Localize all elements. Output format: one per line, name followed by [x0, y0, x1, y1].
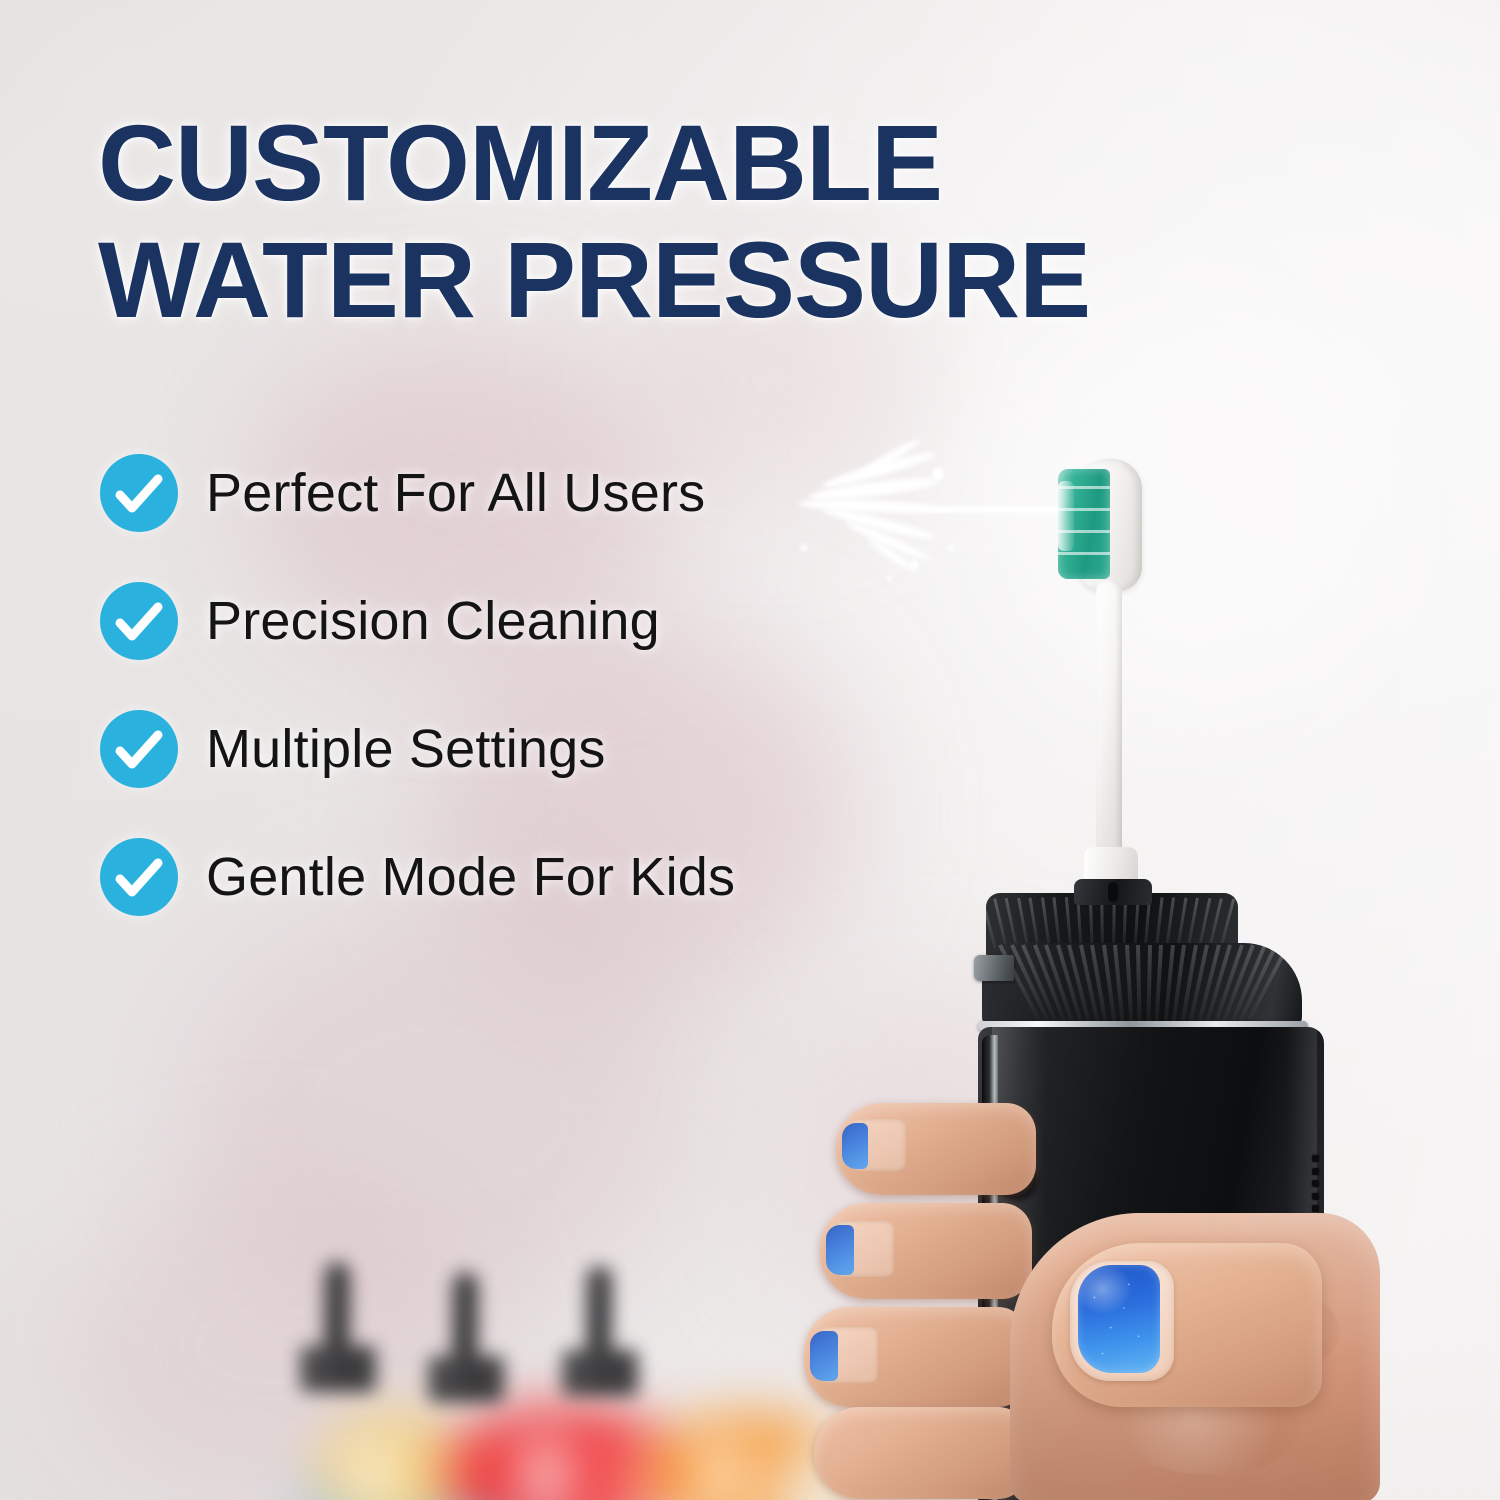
list-item-label: Gentle Mode For Kids — [206, 846, 735, 908]
check-icon — [100, 838, 178, 916]
check-icon — [100, 454, 178, 532]
headline-line-2: WATER PRESSURE — [98, 229, 1090, 332]
list-item: Multiple Settings — [100, 706, 735, 792]
check-icon — [100, 582, 178, 660]
device-shoulder — [982, 943, 1302, 1027]
list-item: Precision Cleaning — [100, 578, 735, 664]
nail-polish — [810, 1331, 838, 1381]
nail-polish — [842, 1123, 868, 1169]
water-splash-plume — [790, 448, 960, 588]
nozzle-jet-tip-highlight — [1058, 481, 1074, 551]
headline-line-1: CUSTOMIZABLE — [98, 112, 1090, 215]
tank-latch[interactable] — [974, 955, 1014, 981]
shoulder-ribbing — [982, 943, 1302, 1027]
list-item-label: Multiple Settings — [206, 718, 606, 780]
list-item-label: Precision Cleaning — [206, 590, 660, 652]
nail-polish — [826, 1225, 854, 1275]
check-icon — [100, 710, 178, 788]
list-item: Perfect For All Users — [100, 450, 735, 536]
page-title: CUSTOMIZABLE WATER PRESSURE — [98, 112, 1090, 331]
nozzle-assembly — [1034, 455, 1184, 915]
list-item-label: Perfect For All Users — [206, 462, 705, 524]
list-item: Gentle Mode For Kids — [100, 834, 735, 920]
product-feature-graphic: CUSTOMIZABLE WATER PRESSURE Perfect For … — [0, 0, 1500, 1500]
thumb-nail-polish — [1078, 1265, 1160, 1373]
nozzle-neck — [1096, 579, 1122, 879]
finger — [814, 1407, 1028, 1499]
feature-list: Perfect For All Users Precision Cleaning… — [100, 450, 735, 962]
hand-holding-device — [820, 1095, 1380, 1500]
cap-collar — [1074, 879, 1152, 905]
